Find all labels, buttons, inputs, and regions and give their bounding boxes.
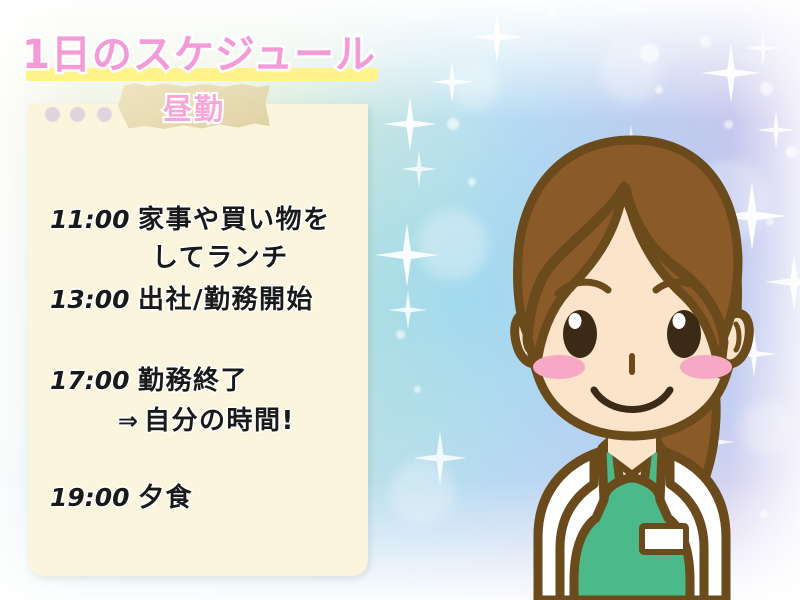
schedule-row-arrow: ⇒ 自分の時間! bbox=[50, 400, 295, 437]
schedule-row: 11:00 家事や買い物を bbox=[50, 199, 331, 236]
schedule-description: 出社/勤務開始 bbox=[138, 279, 314, 316]
schedule-description: 家事や買い物を bbox=[138, 199, 331, 236]
schedule-description: 自分の時間! bbox=[144, 400, 295, 437]
schedule-row: 19:00 夕食 bbox=[50, 477, 193, 514]
page-title: 1日のスケジュール bbox=[22, 22, 376, 80]
schedule-row: 17:00 勤務終了 bbox=[50, 360, 248, 397]
character-illustration bbox=[418, 118, 800, 600]
shift-label: 昼勤 bbox=[118, 86, 270, 128]
arrow-icon: ⇒ bbox=[50, 407, 144, 435]
schedule-time: 13:00 bbox=[50, 285, 138, 314]
schedule-description: 勤務終了 bbox=[138, 360, 248, 397]
schedule-description: 夕食 bbox=[138, 477, 193, 514]
schedule-list: 11:00 家事や買い物を してランチ 13:00 出社/勤務開始 17:00 … bbox=[28, 104, 368, 576]
schedule-time: 11:00 bbox=[50, 205, 138, 234]
page-title-group: 1日のスケジュール bbox=[22, 22, 422, 82]
schedule-row-continuation: してランチ bbox=[138, 237, 289, 274]
schedule-description-continued: してランチ bbox=[138, 237, 289, 274]
schedule-infographic: 11:00 家事や買い物を してランチ 13:00 出社/勤務開始 17:00 … bbox=[0, 0, 800, 600]
schedule-time: 19:00 bbox=[50, 483, 138, 512]
schedule-row: 13:00 出社/勤務開始 bbox=[50, 279, 314, 316]
schedule-time: 17:00 bbox=[50, 366, 138, 395]
